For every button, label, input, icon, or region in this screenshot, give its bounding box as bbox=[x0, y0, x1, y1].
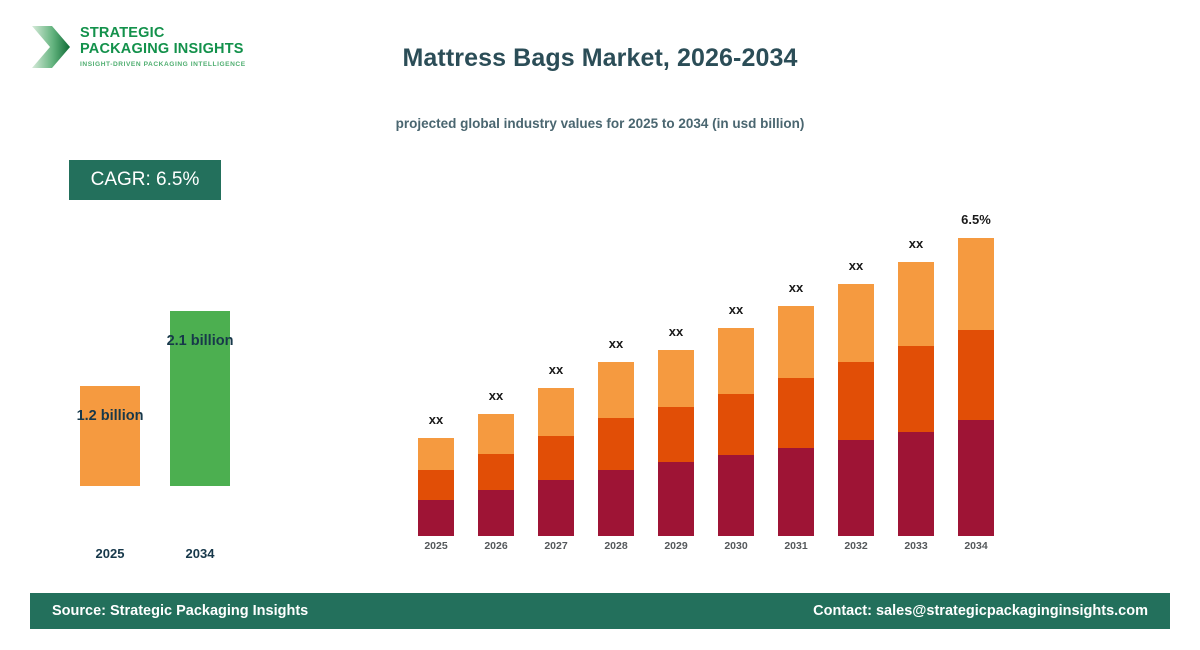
stacked-bar-segment bbox=[478, 414, 514, 454]
stacked-bar-year-label: 2028 bbox=[586, 540, 646, 552]
stacked-bar-year-label: 2027 bbox=[526, 540, 586, 552]
stacked-bar-segment bbox=[958, 330, 994, 420]
stacked-bar-year-label: 2025 bbox=[406, 540, 466, 552]
stacked-bar-segment bbox=[598, 418, 634, 470]
stacked-bar-segment bbox=[418, 438, 454, 470]
stacked-bar bbox=[838, 284, 874, 536]
stacked-bar-year-label: 2026 bbox=[466, 540, 526, 552]
stacked-bar bbox=[538, 388, 574, 536]
stacked-bar bbox=[778, 306, 814, 536]
stacked-bar-top-label: xx bbox=[826, 258, 886, 273]
stacked-bar-segment bbox=[418, 500, 454, 536]
comparison-bar-value-label: 1.2 billion bbox=[30, 408, 190, 424]
stacked-bar-top-label: xx bbox=[706, 302, 766, 317]
stacked-bar-segment bbox=[478, 490, 514, 536]
stacked-bar-top-label: xx bbox=[586, 336, 646, 351]
stacked-bar-segment bbox=[778, 306, 814, 378]
stacked-bar-top-label: xx bbox=[886, 236, 946, 251]
comparison-bar-year-label: 2034 bbox=[140, 546, 260, 561]
stacked-bar bbox=[718, 328, 754, 536]
stacked-bar-year-label: 2030 bbox=[706, 540, 766, 552]
stacked-bar-segment bbox=[538, 388, 574, 436]
stacked-bar-segment bbox=[598, 470, 634, 536]
stacked-bar-segment bbox=[898, 346, 934, 432]
stacked-bar-top-label: 6.5% bbox=[946, 212, 1006, 227]
stacked-bar-segment bbox=[958, 238, 994, 330]
stacked-bar-segment bbox=[598, 362, 634, 418]
stacked-bar bbox=[658, 350, 694, 536]
stacked-bar-segment bbox=[538, 480, 574, 536]
stacked-bar bbox=[898, 262, 934, 536]
stacked-bar-segment bbox=[838, 362, 874, 440]
footer-contact: Contact: sales@strategicpackaginginsight… bbox=[813, 603, 1148, 619]
segment-forecast-chart: xx2025xx2026xx2027xx2028xx2029xx2030xx20… bbox=[400, 0, 1020, 600]
stacked-bar-segment bbox=[778, 448, 814, 536]
stacked-bar-segment bbox=[838, 284, 874, 362]
comparison-bar bbox=[80, 386, 140, 486]
stacked-bar bbox=[418, 438, 454, 536]
stacked-bar-segment bbox=[658, 350, 694, 407]
stacked-bar-year-label: 2032 bbox=[826, 540, 886, 552]
stacked-bar-segment bbox=[718, 328, 754, 394]
stacked-bar-top-label: xx bbox=[526, 362, 586, 377]
footer-bar: Source: Strategic Packaging Insights Con… bbox=[30, 593, 1170, 629]
stacked-bar-segment bbox=[478, 454, 514, 490]
stacked-bar-segment bbox=[838, 440, 874, 536]
footer-source: Source: Strategic Packaging Insights bbox=[52, 603, 308, 619]
stacked-bar-segment bbox=[538, 436, 574, 480]
stacked-bar-segment bbox=[898, 432, 934, 536]
stacked-bar-segment bbox=[658, 462, 694, 536]
stacked-bar-segment bbox=[898, 262, 934, 346]
stacked-bar-segment bbox=[718, 455, 754, 536]
stacked-bar bbox=[958, 238, 994, 536]
stacked-bar-segment bbox=[778, 378, 814, 448]
stacked-bar bbox=[478, 414, 514, 536]
stacked-bar-top-label: xx bbox=[406, 412, 466, 427]
endpoint-comparison-chart: 1.2 billion20252.1 billion2034 bbox=[0, 0, 330, 600]
stacked-bar-year-label: 2034 bbox=[946, 540, 1006, 552]
stacked-bar-segment bbox=[958, 420, 994, 536]
stacked-bar-year-label: 2031 bbox=[766, 540, 826, 552]
stacked-bar-segment bbox=[658, 407, 694, 462]
stacked-bar-top-label: xx bbox=[646, 324, 706, 339]
stacked-bar-top-label: xx bbox=[766, 280, 826, 295]
stacked-bar-segment bbox=[418, 470, 454, 500]
stacked-bar-top-label: xx bbox=[466, 388, 526, 403]
stacked-bar-year-label: 2029 bbox=[646, 540, 706, 552]
stacked-bar bbox=[598, 362, 634, 536]
comparison-bar-value-label: 2.1 billion bbox=[120, 333, 280, 349]
stacked-bar-year-label: 2033 bbox=[886, 540, 946, 552]
stacked-bar-segment bbox=[718, 394, 754, 455]
